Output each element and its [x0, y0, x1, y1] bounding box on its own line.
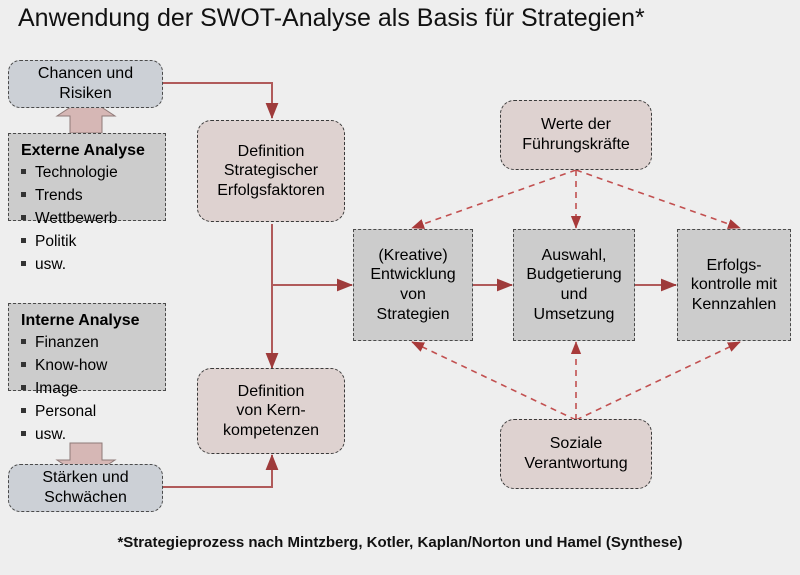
list-item: Personal	[19, 401, 155, 424]
interne-analyse-list: Finanzen Know-how Image Personal usw.	[19, 332, 155, 447]
list-item: usw.	[19, 254, 155, 277]
footnote-text: *Strategieprozess nach Mintzberg, Kotler…	[0, 534, 800, 551]
externe-analyse-heading: Externe Analyse	[21, 142, 155, 160]
box-chancen-und-risiken[interactable]: Chancen und Risiken	[8, 60, 163, 108]
list-item: Finanzen	[19, 332, 155, 355]
box-kreative-entwicklung-von-strategien[interactable]: (Kreative) Entwicklung von Strategien	[353, 229, 473, 341]
box-interne-analyse[interactable]: Interne Analyse Finanzen Know-how Image …	[8, 303, 166, 391]
list-item: Politik	[19, 231, 155, 254]
list-item: Trends	[19, 185, 155, 208]
list-item: Technologie	[19, 162, 155, 185]
list-item: Wettbewerb	[19, 208, 155, 231]
box-auswahl-label: Auswahl, Budgetierung und Umsetzung	[526, 246, 621, 324]
box-erfolgskontrolle-mit-kennzahlen[interactable]: Erfolgs- kontrolle mit Kennzahlen	[677, 229, 791, 341]
box-def-strat-label: Definition Strategischer Erfolgsfaktoren	[217, 142, 325, 201]
box-werte-der-fuehrungskraefte[interactable]: Werte der Führungskräfte	[500, 100, 652, 170]
box-externe-analyse[interactable]: Externe Analyse Technologie Trends Wettb…	[8, 133, 166, 221]
box-auswahl-budgetierung-umsetzung[interactable]: Auswahl, Budgetierung und Umsetzung	[513, 229, 635, 341]
box-staerken-und-schwaechen[interactable]: Stärken und Schwächen	[8, 464, 163, 512]
box-staerken-label: Stärken und Schwächen	[42, 468, 128, 507]
box-werte-label: Werte der Führungskräfte	[522, 115, 630, 154]
list-item: Know-how	[19, 355, 155, 378]
box-chancen-label: Chancen und Risiken	[38, 64, 133, 103]
box-def-kern-label: Definition von Kern- kompetenzen	[223, 382, 319, 441]
list-item: usw.	[19, 424, 155, 447]
box-soziale-label: Soziale Verantwortung	[524, 434, 627, 473]
externe-analyse-list: Technologie Trends Wettbewerb Politik us…	[19, 162, 155, 277]
list-item: Image	[19, 378, 155, 401]
box-kreative-label: (Kreative) Entwicklung von Strategien	[370, 246, 455, 324]
box-definition-strategischer-erfolgsfaktoren[interactable]: Definition Strategischer Erfolgsfaktoren	[197, 120, 345, 222]
box-erfolgs-label: Erfolgs- kontrolle mit Kennzahlen	[691, 256, 777, 315]
page-title: Anwendung der SWOT-Analyse als Basis für…	[18, 4, 645, 33]
interne-analyse-heading: Interne Analyse	[21, 312, 155, 330]
box-definition-von-kernkompetenzen[interactable]: Definition von Kern- kompetenzen	[197, 368, 345, 454]
diagram-canvas: Anwendung der SWOT-Analyse als Basis für…	[0, 0, 800, 575]
box-soziale-verantwortung[interactable]: Soziale Verantwortung	[500, 419, 652, 489]
